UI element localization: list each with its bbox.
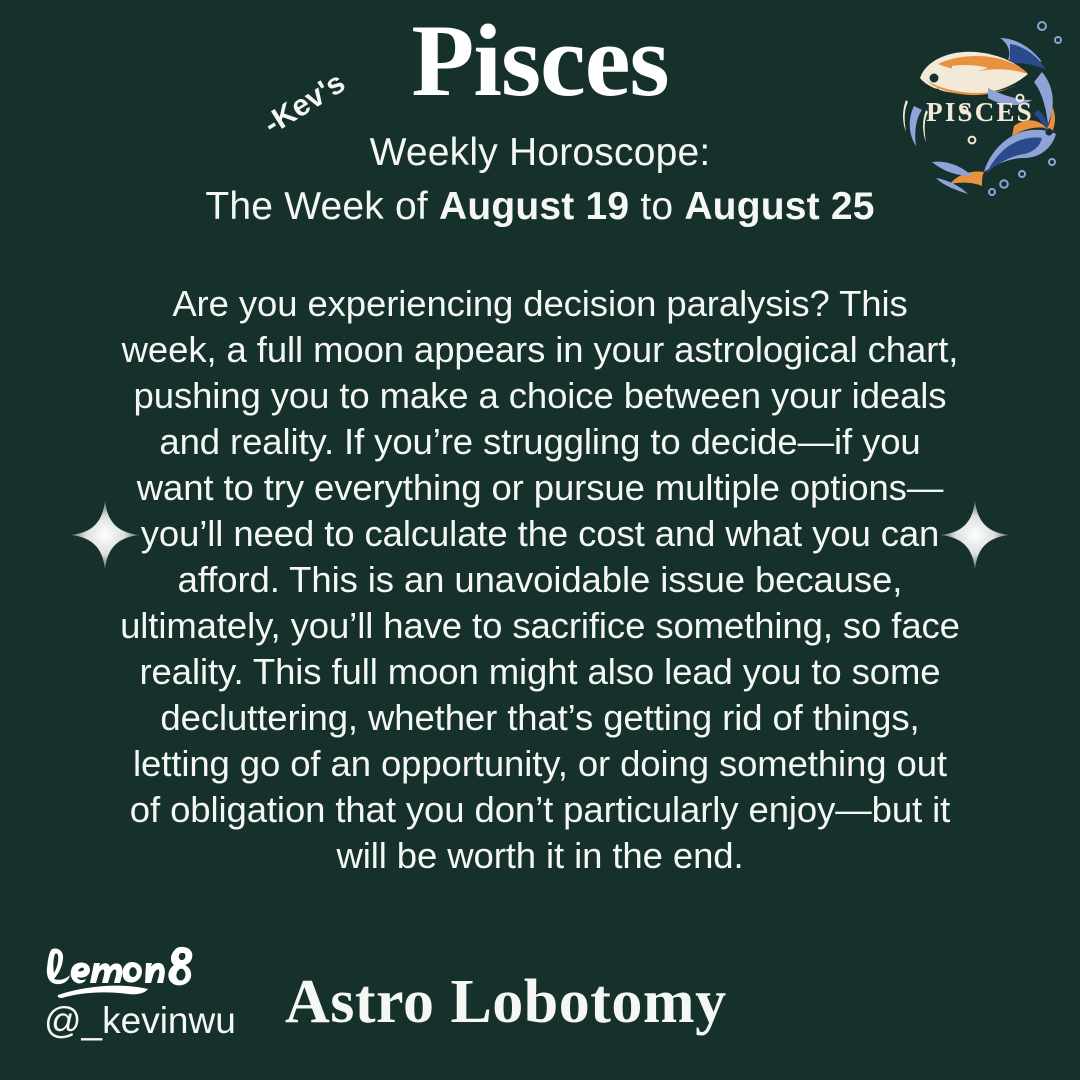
dateline-middle: to [629, 185, 684, 228]
brand-block: @_kevinwu [44, 941, 294, 1042]
horoscope-card: Pisces -Kev's Weekly Horoscope: The Week… [0, 0, 1080, 1080]
pisces-zodiac-icon: PISCES [892, 14, 1068, 196]
lemon8-logo-icon [44, 941, 204, 999]
series-title: Astro Lobotomy [285, 967, 727, 1038]
horoscope-body-text: Are you experiencing decision paralysis?… [120, 281, 960, 879]
dateline-prefix: The Week of [205, 185, 439, 228]
date-start: August 19 [439, 185, 629, 228]
user-handle: @_kevinwu [44, 1001, 294, 1042]
date-end: August 25 [684, 185, 874, 228]
